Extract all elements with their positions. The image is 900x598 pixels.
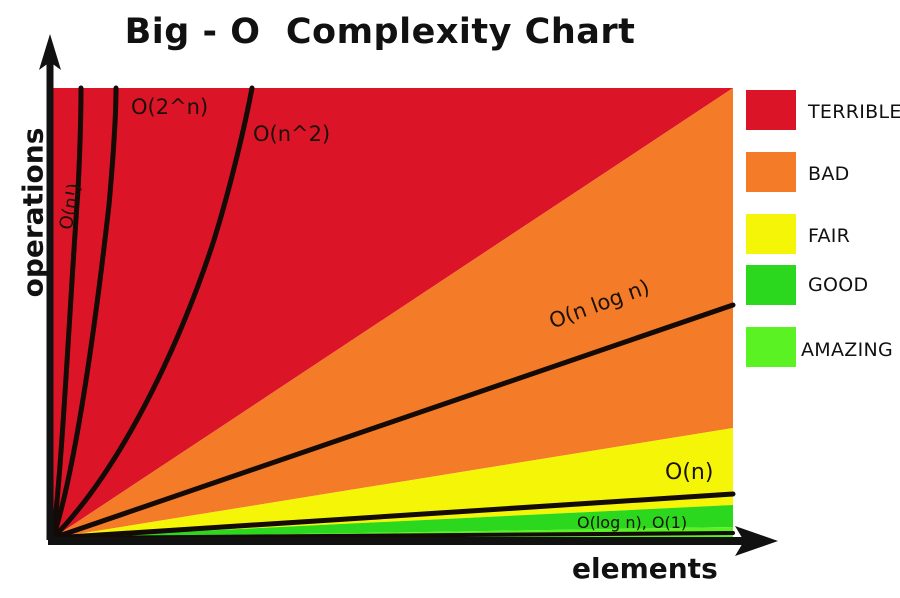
legend-swatch-bad: [746, 152, 796, 192]
legend-label-terrible: TERRIBLE: [808, 101, 900, 123]
legend-label-good: GOOD: [808, 274, 868, 296]
legend-swatch-fair: [746, 214, 796, 254]
x-axis-label: elements: [572, 552, 718, 585]
legend-label-bad: BAD: [808, 163, 850, 185]
curve-label-log-constant: O(log n), O(1): [577, 513, 687, 532]
legend-swatch-good: [746, 265, 796, 305]
legend-swatch-terrible: [746, 90, 796, 130]
legend-label-fair: FAIR: [808, 225, 850, 247]
curve-label-linear: O(n): [665, 460, 713, 485]
curve-label-exponential: O(2^n): [131, 95, 208, 119]
curve-label-quadratic: O(n^2): [253, 122, 330, 146]
legend-label-amazing: AMAZING: [801, 339, 893, 361]
y-axis-label: operations: [17, 128, 50, 298]
legend-swatch-amazing: [746, 327, 796, 367]
chart-canvas: Big - O Complexity Chart: [0, 0, 900, 598]
